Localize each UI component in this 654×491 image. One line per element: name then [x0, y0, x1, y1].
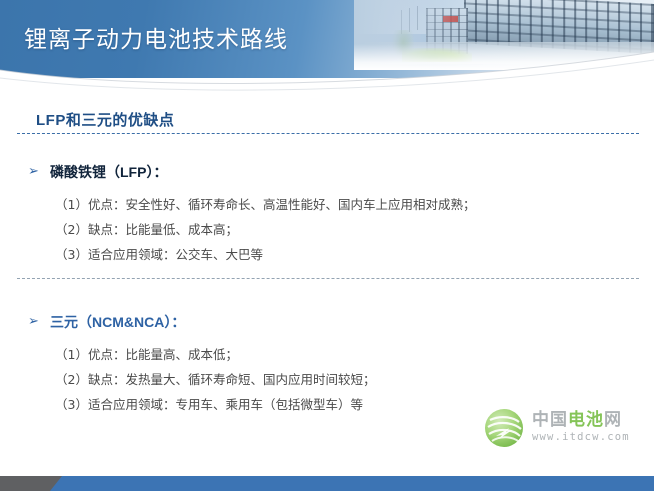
list-item: （3）适合应用领域：公交车、大巴等	[55, 242, 654, 267]
content-block-lfp: ➢ 磷酸铁锂（LFP）： （1）优点：安全性好、循环寿命长、高温性能好、国内车上…	[0, 162, 654, 259]
list-item: （1）优点：比能量高、成本低；	[55, 342, 654, 367]
list-item: （1）优点：安全性好、循环寿命长、高温性能好、国内车上应用相对成熟；	[55, 192, 654, 217]
list-item: （2）缺点：比能量低、成本高；	[55, 217, 654, 242]
watermark-url: www.itdcw.com	[532, 431, 630, 443]
bottom-bar	[0, 476, 654, 491]
arrow-bullet-icon: ➢	[28, 314, 39, 327]
list-item: （2）缺点：发热量大、循环寿命短、国内应用时间较短；	[55, 367, 654, 392]
brand-part-1: 中国	[532, 410, 568, 429]
header-wave	[0, 48, 654, 94]
watermark-brand: 中国电池网	[532, 410, 630, 429]
brand-part-2: 电池	[568, 410, 604, 429]
header-wave-svg	[0, 48, 654, 94]
content-block-ncm: ➢ 三元（NCM&NCA）： （1）优点：比能量高、成本低； （2）缺点：发热量…	[0, 312, 654, 409]
watermark: 中国电池网 www.itdcw.com	[482, 404, 642, 456]
arrow-bullet-icon: ➢	[28, 164, 39, 177]
brand-part-3: 网	[604, 410, 622, 429]
watermark-text: 中国电池网 www.itdcw.com	[532, 410, 630, 443]
divider-blue-dashed	[17, 133, 639, 134]
block-title-ncm: 三元（NCM&NCA）：	[50, 312, 185, 332]
block-title-lfp: 磷酸铁锂（LFP）：	[50, 162, 167, 182]
bottom-bar-svg	[0, 476, 654, 491]
section-heading: LFP和三元的优缺点	[36, 109, 174, 130]
divider-gray-dashed	[17, 278, 639, 279]
globe-icon	[482, 406, 526, 450]
slide-canvas: 锂离子动力电池技术路线 LFP和三元的优缺点 ➢ 磷酸铁锂（LFP）： （1）优…	[0, 0, 654, 491]
